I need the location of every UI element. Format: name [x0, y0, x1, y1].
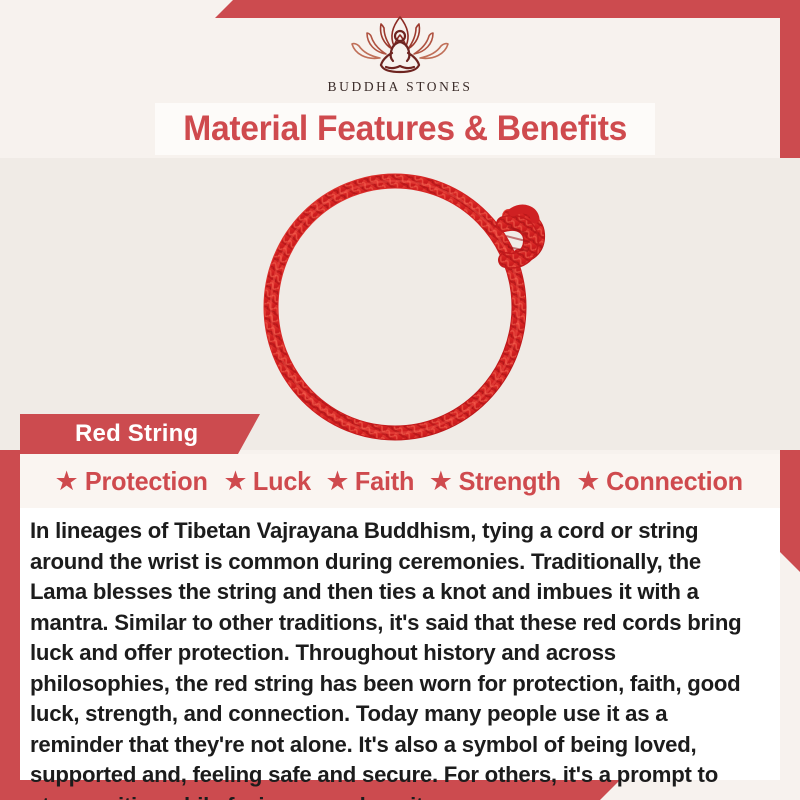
product-description-block: In lineages of Tibetan Vajrayana Buddhis…	[20, 508, 780, 780]
page-title: Material Features & Benefits	[183, 109, 627, 149]
brand-logo: BUDDHA STONES	[328, 11, 473, 95]
red-braided-bracelet-image	[232, 164, 572, 444]
product-name-banner: Red String	[20, 414, 260, 454]
benefit-item-strength: ★ Strength	[424, 466, 568, 497]
product-name: Red String	[75, 420, 198, 448]
benefit-item-luck: ★ Luck	[218, 466, 316, 497]
star-icon: ★	[576, 468, 600, 495]
benefit-label: Luck	[252, 466, 310, 497]
product-description: In lineages of Tibetan Vajrayana Buddhis…	[30, 516, 755, 800]
benefit-label: Connection	[607, 466, 744, 497]
benefits-list: ★ Protection ★ Luck ★ Faith ★ Strength ★…	[20, 454, 780, 508]
star-icon: ★	[325, 468, 349, 495]
benefit-item-connection: ★ Connection	[571, 466, 750, 497]
benefit-item-protection: ★ Protection	[50, 466, 215, 497]
star-icon: ★	[429, 468, 453, 495]
brand-header: BUDDHA STONES	[0, 0, 800, 100]
product-image-area	[0, 158, 800, 450]
title-band: Material Features & Benefits	[155, 103, 655, 155]
benefit-label: Protection	[85, 466, 208, 497]
brand-name: BUDDHA STONES	[328, 79, 473, 95]
star-icon: ★	[55, 468, 79, 495]
benefit-label: Faith	[355, 466, 414, 497]
infographic-poster: BUDDHA STONES Material Features & Benefi…	[0, 0, 800, 800]
star-icon: ★	[223, 468, 247, 495]
benefit-item-faith: ★ Faith	[320, 466, 419, 497]
benefit-label: Strength	[459, 466, 561, 497]
lotus-meditation-icon	[334, 11, 466, 77]
